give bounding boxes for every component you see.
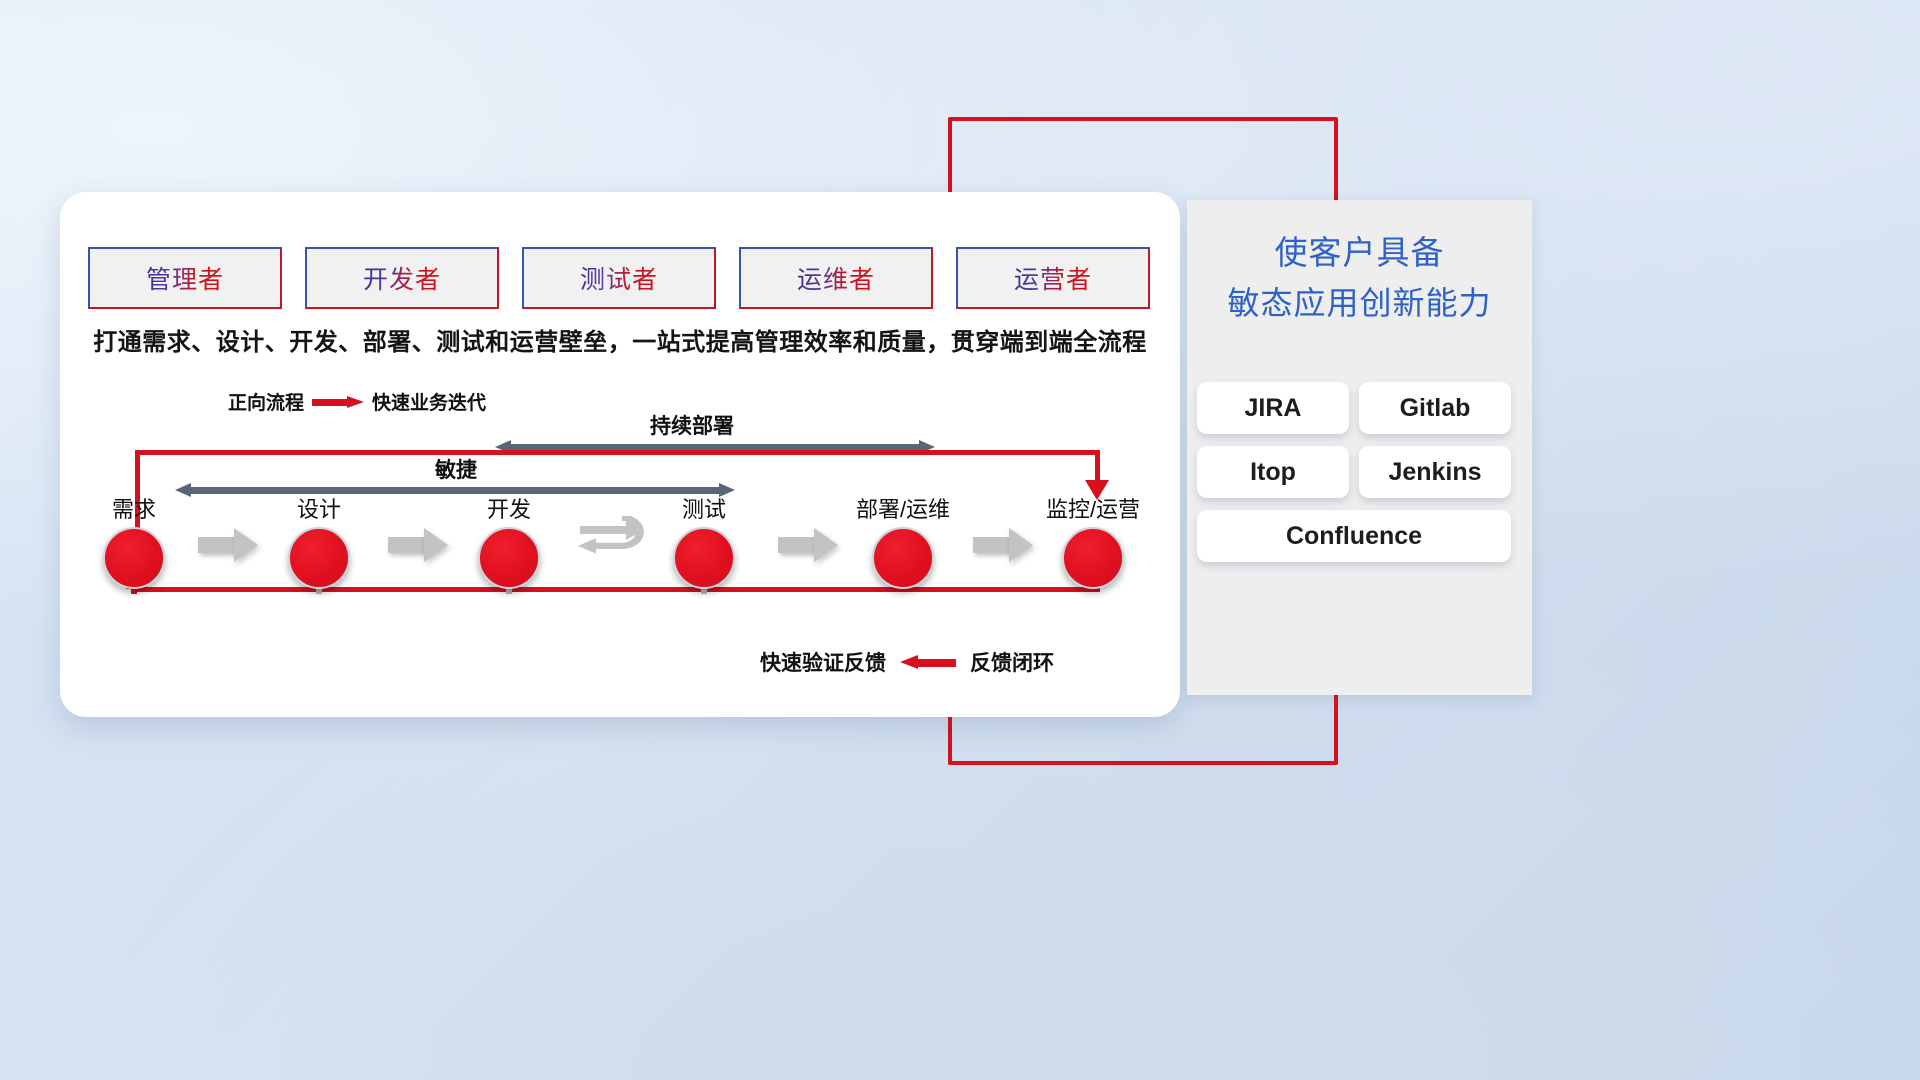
tool-label: Gitlab [1400,394,1471,423]
tool-label: JIRA [1245,394,1302,423]
tool-label: Jenkins [1388,458,1481,487]
role-label: 运营者 [1014,260,1092,296]
node-label: 需求 [79,492,189,524]
tool-label: Confluence [1286,522,1422,551]
pipeline-node-deploy-ops[interactable]: 部署/运维 [848,492,958,589]
tool-pill-jenkins[interactable]: Jenkins [1359,446,1511,498]
pipeline-node-requirement[interactable]: 需求 [79,492,189,589]
node-label: 开发 [454,492,564,524]
slide-canvas: 管理者 开发者 测试者 运维者 运营者 打通需求、设计、开发、部署、测试和运营壁… [0,0,1920,1080]
node-dot [103,527,165,589]
forward-flow-label: 正向流程 [228,388,304,415]
node-dot [872,527,934,589]
tool-label: Itop [1250,458,1296,487]
flow-arrow-icon [198,528,258,562]
role-label: 测试者 [580,260,658,296]
tool-pill-jira[interactable]: JIRA [1197,382,1349,434]
main-card: 管理者 开发者 测试者 运维者 运营者 打通需求、设计、开发、部署、测试和运营壁… [60,192,1180,717]
panel-title-line2: 敏态应用创新能力 [1187,278,1532,328]
continuous-deploy-label: 持续部署 [650,410,734,440]
tool-pill-itop[interactable]: Itop [1197,446,1349,498]
node-dot [478,527,540,589]
red-loop-right [1095,450,1100,484]
red-arrow-left-icon [900,655,956,669]
node-dot [673,527,735,589]
tool-pill-list: JIRA Gitlab Itop Jenkins Confluence [1197,382,1522,562]
panel-title-line1: 使客户具备 [1275,234,1445,271]
role-box-manager[interactable]: 管理者 [88,247,282,309]
feedback-loop-label: 反馈闭环 [970,647,1054,677]
forward-flow-legend: 正向流程 快速业务迭代 [228,388,486,415]
capability-panel: 使客户具备 敏态应用创新能力 JIRA Gitlab Itop Jenkins … [1187,200,1532,695]
description-text: 打通需求、设计、开发、部署、测试和运营壁垒，一站式提高管理效率和质量，贯穿端到端… [88,322,1152,357]
role-label: 开发者 [363,260,441,296]
node-dot [1062,527,1124,589]
feedback-legend: 快速验证反馈 反馈闭环 [760,647,1054,677]
tool-pill-gitlab[interactable]: Gitlab [1359,382,1511,434]
red-loop-top [135,450,1100,455]
pipeline: 需求 设计 开发 [88,492,1152,602]
pipeline-node-monitor-operation[interactable]: 监控/运营 [1038,492,1148,589]
role-box-developer[interactable]: 开发者 [305,247,499,309]
forward-result-label: 快速业务迭代 [372,388,486,415]
tool-pill-confluence[interactable]: Confluence [1197,510,1511,562]
node-label: 部署/运维 [848,492,958,524]
role-label: 运维者 [797,260,875,296]
role-box-operator[interactable]: 运营者 [956,247,1150,309]
node-label: 测试 [649,492,759,524]
flow-arrow-icon [388,528,448,562]
loop-back-arrow-icon [578,516,658,572]
role-box-ops[interactable]: 运维者 [739,247,933,309]
node-label: 设计 [264,492,374,524]
node-dot [288,527,350,589]
pipeline-node-design[interactable]: 设计 [264,492,374,589]
agile-label: 敏捷 [435,454,477,484]
pipeline-node-development[interactable]: 开发 [454,492,564,589]
flow-arrow-icon [778,528,838,562]
role-box-row: 管理者 开发者 测试者 运维者 运营者 [88,247,1150,309]
flow-arrow-icon [973,528,1033,562]
node-label: 监控/运营 [1038,492,1148,524]
role-label: 管理者 [146,260,224,296]
fast-verify-label: 快速验证反馈 [760,647,886,677]
panel-title: 使客户具备 敏态应用创新能力 [1187,228,1532,328]
pipeline-node-testing[interactable]: 测试 [649,492,759,589]
role-box-tester[interactable]: 测试者 [522,247,716,309]
red-arrow-right-icon [312,396,364,408]
